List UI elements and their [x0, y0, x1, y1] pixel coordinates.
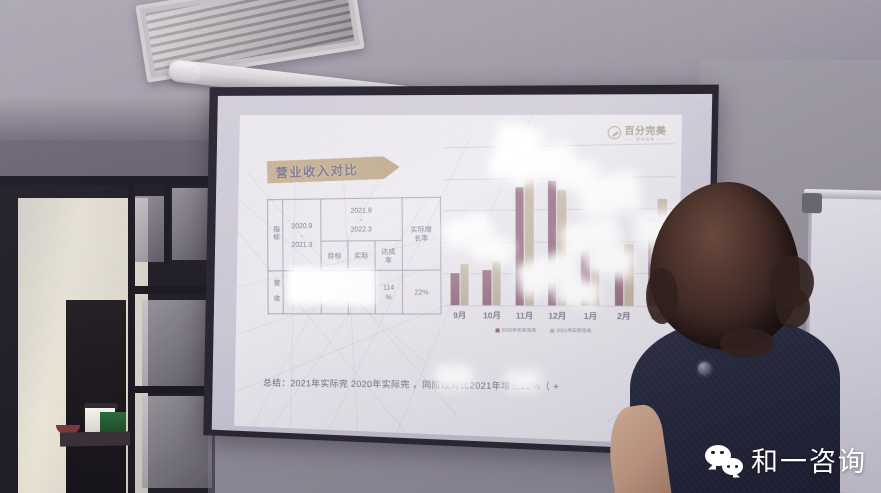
legend-label-2021: 2021年实际完成: [556, 328, 591, 334]
growth-rate-header: 实际增 长率: [402, 197, 441, 270]
cell-achievement-rate: 114 %: [375, 271, 402, 314]
photo-scene: 百分完美 —— 咨询机构 —— 营业收入对比 指标 2: [0, 0, 881, 493]
redaction-block: [435, 365, 474, 390]
row-label-revenue: 营 收: [268, 271, 283, 314]
presentation-slide: 百分完美 —— 咨询机构 —— 营业收入对比 指标 2: [234, 115, 682, 445]
legend-label-2020: 2020年实际完成: [502, 327, 536, 333]
x-label-1月: 1月: [580, 310, 601, 324]
watermark: 和一咨询: [705, 440, 867, 479]
chart-legend: 2020年实际完成 2021年实际完成: [496, 327, 592, 334]
interior-dark-cabinet: [66, 300, 126, 493]
watermark-text: 和一咨询: [751, 440, 867, 479]
x-label-9月: 9月: [450, 309, 470, 323]
x-label-12月: 12月: [547, 310, 567, 324]
bar-2021-9月: [460, 264, 469, 305]
redaction-block: [504, 369, 541, 392]
door-mullion: [128, 386, 216, 393]
hair-wisp: [646, 268, 678, 324]
metric-header-label: 指标: [271, 226, 280, 242]
door-header-beam: [0, 176, 212, 185]
legend-item: 2020年实际完成: [496, 327, 537, 333]
door-mullion: [128, 286, 216, 294]
x-label-10月: 10月: [482, 309, 502, 323]
table-row: 指标 2020.9 - 2021.3 2021.9 - 2022.3 实际增 长…: [268, 197, 441, 242]
legend-swatch-2021: [550, 329, 554, 333]
door-glass-panel: [142, 300, 212, 386]
logo-name: 百分完美: [624, 123, 667, 137]
circle-logo-icon: [608, 126, 622, 139]
door-mullion: [164, 182, 170, 264]
legend-swatch-2020: [496, 328, 500, 332]
door-glass-panel: [142, 396, 212, 488]
door-glass-panel: [130, 196, 164, 262]
lapel-brooch: [698, 362, 711, 375]
bar-2020-9月: [451, 274, 459, 306]
hair-wisp: [720, 328, 774, 358]
roller-end-cap: [170, 61, 202, 82]
cell-growth-rate: 22%: [402, 270, 441, 314]
door-mullion: [128, 182, 135, 493]
hair-wisp: [776, 288, 810, 328]
counter-top: [60, 431, 130, 446]
bar-2021-10月: [492, 261, 501, 306]
x-label-11月: 11月: [514, 309, 534, 323]
actual-subheader: 实际: [348, 241, 375, 271]
slide-title: 营业收入对比: [275, 159, 358, 181]
bar-2020-10月: [483, 270, 492, 305]
curr-period-header: 2021.9 - 2022.3: [321, 198, 402, 242]
wechat-icon: [705, 445, 743, 475]
prev-period-header: 2020.9 - 2021.3: [283, 199, 321, 271]
achievement-subheader: 达成 率: [375, 241, 402, 271]
legend-item: 2021年实际完成: [550, 328, 591, 334]
redaction-block: [287, 267, 376, 306]
table-corner-header: 指标: [268, 200, 283, 272]
